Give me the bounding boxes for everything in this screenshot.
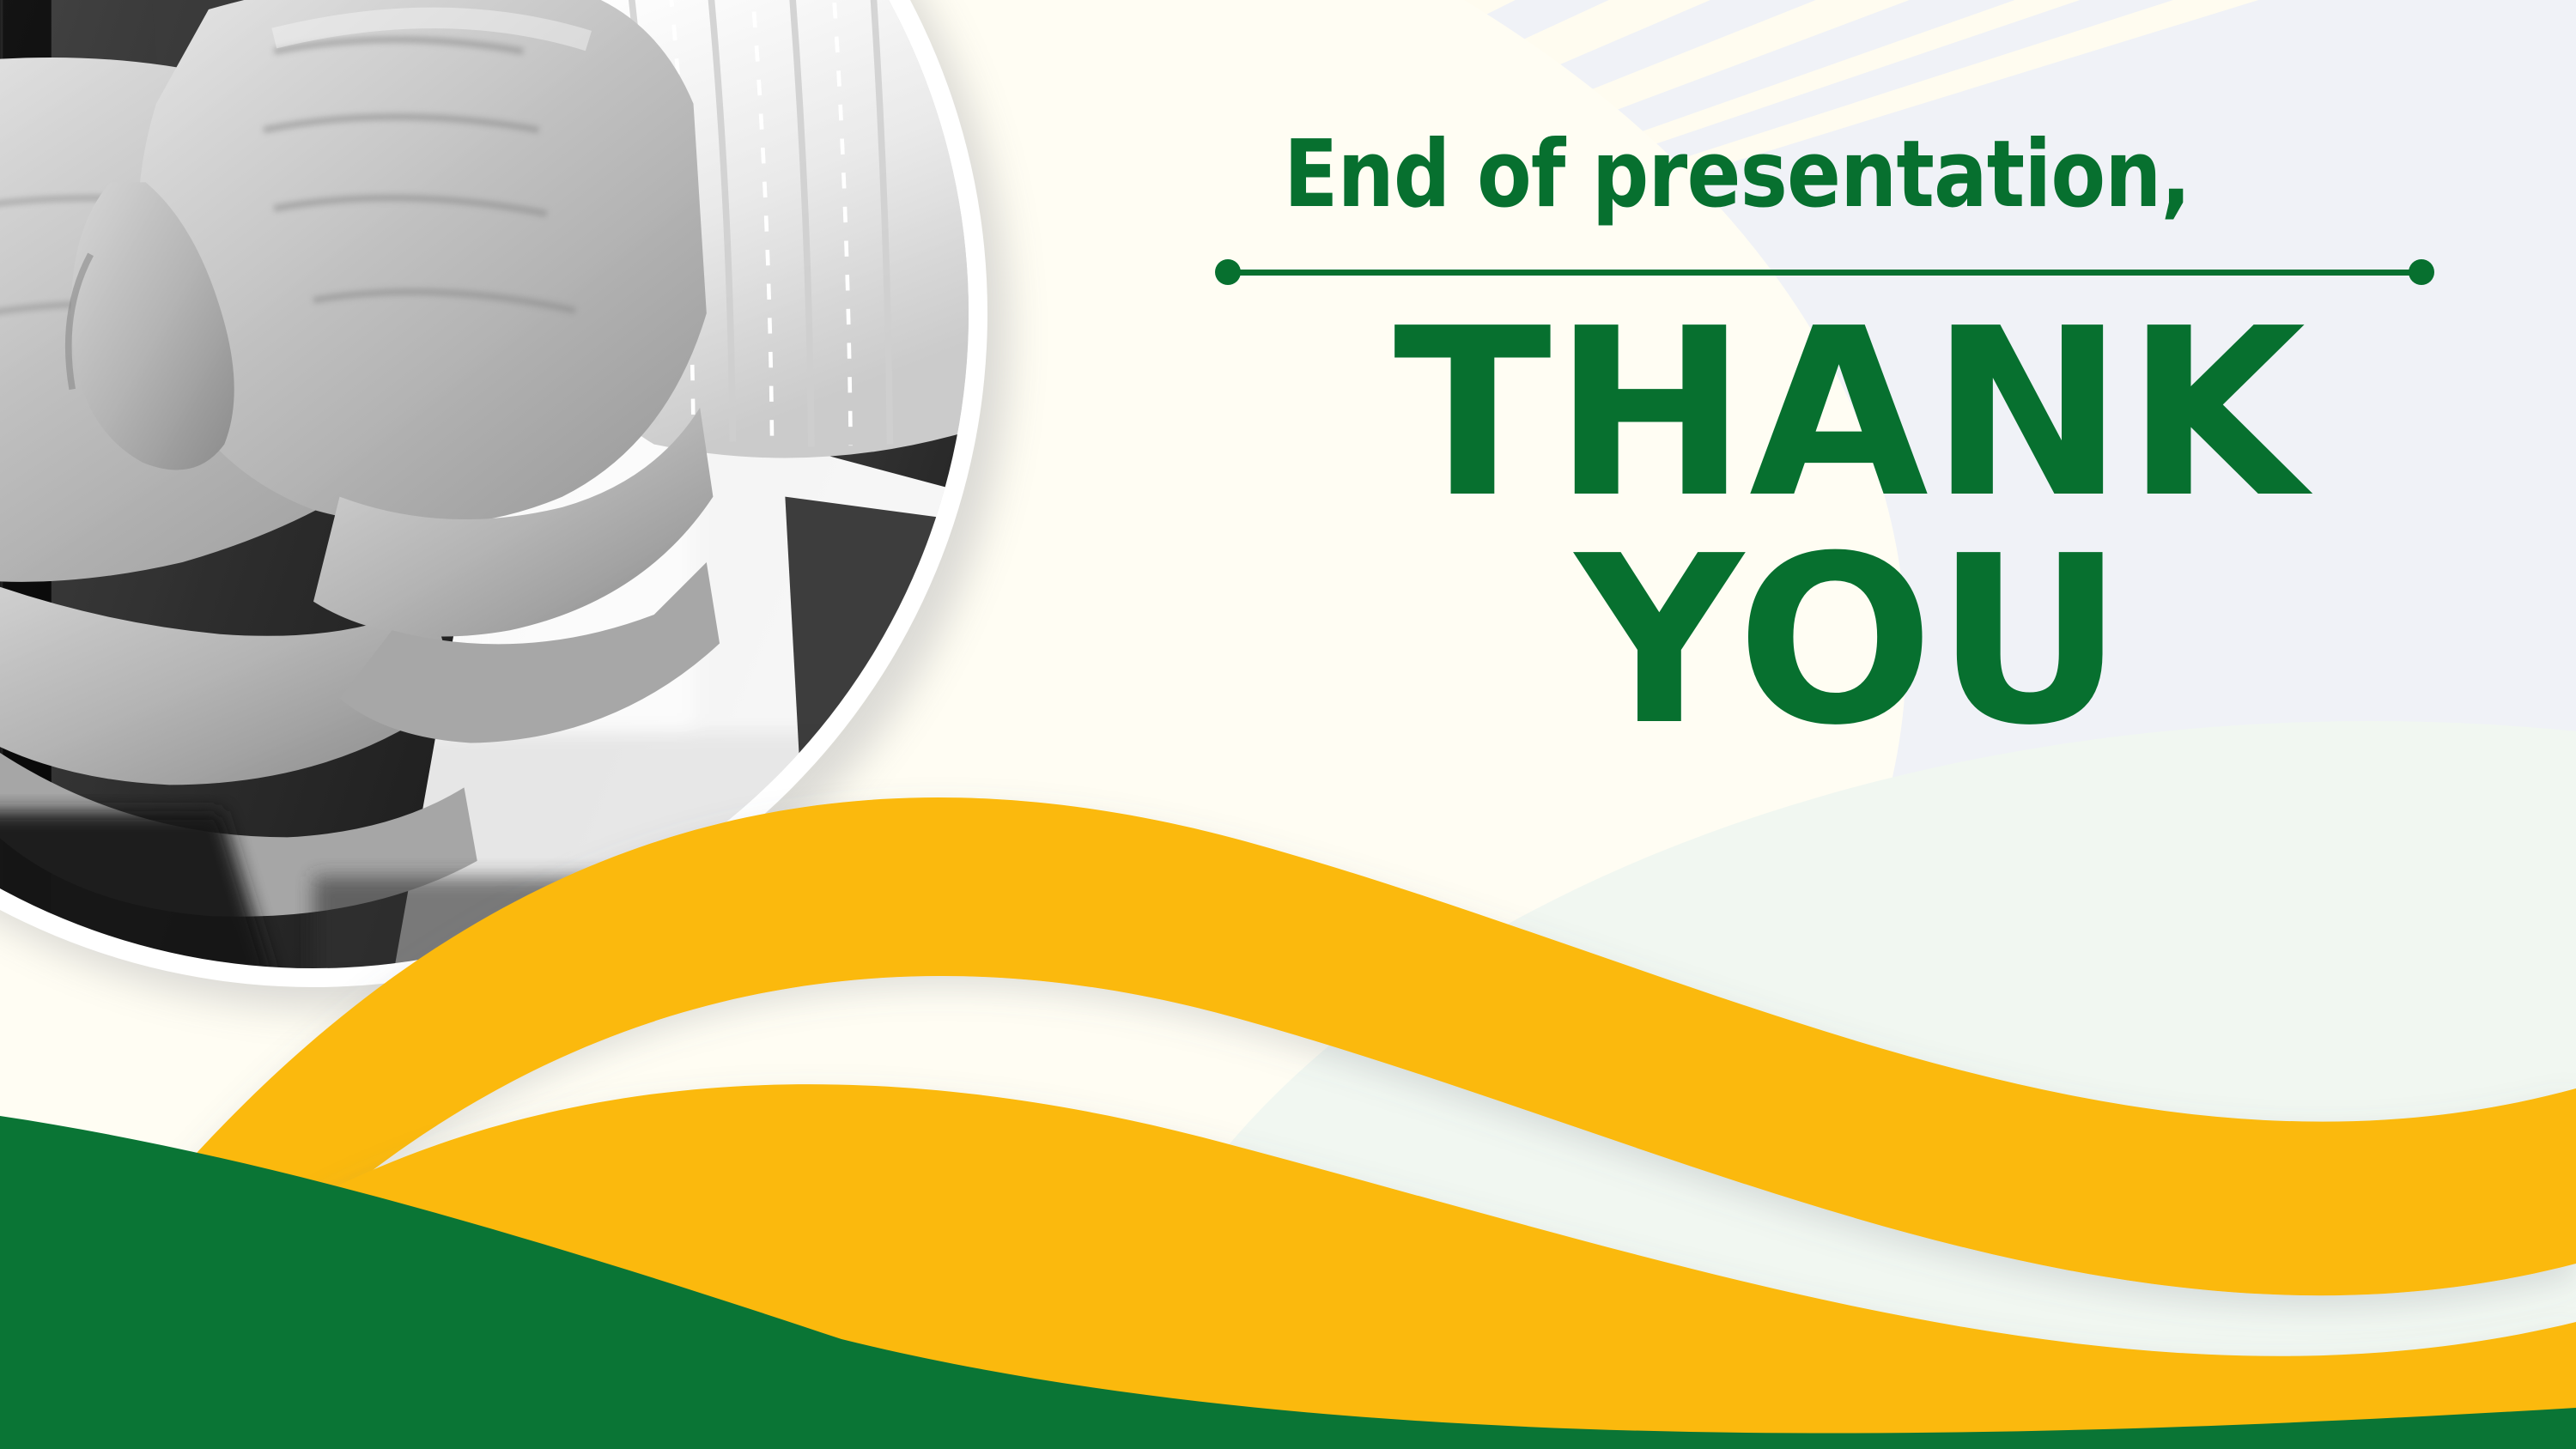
divider: [1215, 259, 2434, 285]
divider-dot-right: [2409, 259, 2434, 285]
divider-rule: [1227, 270, 2422, 276]
text-block: End of presentation, THANK YOU: [1215, 129, 2486, 755]
page-title: THANK YOU: [1215, 300, 2486, 755]
slide-eyebrow: End of presentation,: [1284, 129, 2318, 221]
slide-canvas: End of presentation, THANK YOU: [0, 0, 2576, 1449]
